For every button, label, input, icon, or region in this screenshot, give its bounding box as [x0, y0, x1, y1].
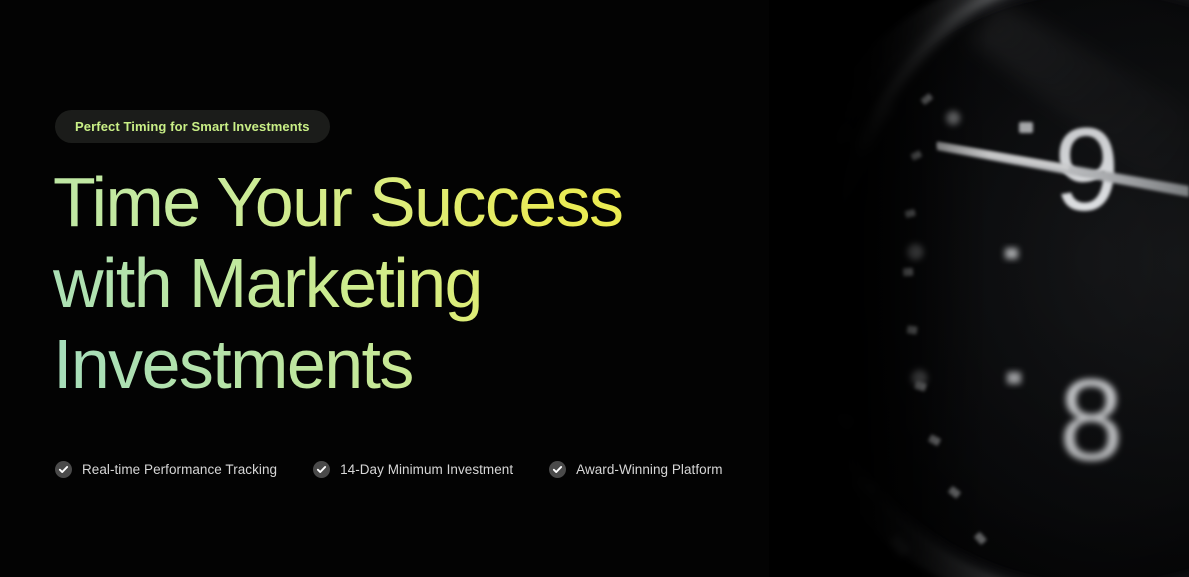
feature-label: Award-Winning Platform	[576, 462, 722, 477]
feature-item: Real-time Performance Tracking	[55, 461, 277, 478]
hero-section: 9 8 Perfect Timing for Smart Investments…	[0, 0, 1189, 577]
feature-label: Real-time Performance Tracking	[82, 462, 277, 477]
check-circle-icon	[313, 461, 330, 478]
feature-item: Award-Winning Platform	[549, 461, 722, 478]
clock-photo-illustration: 9 8	[769, 0, 1189, 577]
eyebrow-badge-label: Perfect Timing for Smart Investments	[75, 119, 310, 134]
page-title: Time Your Success with Marketing Investm…	[53, 162, 622, 405]
headline-line-1: Time Your Success	[53, 162, 622, 243]
feature-item: 14-Day Minimum Investment	[313, 461, 513, 478]
headline-line-3: Investments	[53, 324, 622, 405]
hero-content: Perfect Timing for Smart Investments Tim…	[55, 0, 815, 577]
feature-list: Real-time Performance Tracking 14-Day Mi…	[55, 461, 723, 478]
check-circle-icon	[549, 461, 566, 478]
clock-photo: 9 8	[769, 0, 1189, 577]
headline-line-2: with Marketing	[53, 243, 622, 324]
clock-numeral-8: 8	[1059, 355, 1124, 485]
feature-label: 14-Day Minimum Investment	[340, 462, 513, 477]
check-circle-icon	[55, 461, 72, 478]
eyebrow-badge: Perfect Timing for Smart Investments	[55, 110, 330, 143]
